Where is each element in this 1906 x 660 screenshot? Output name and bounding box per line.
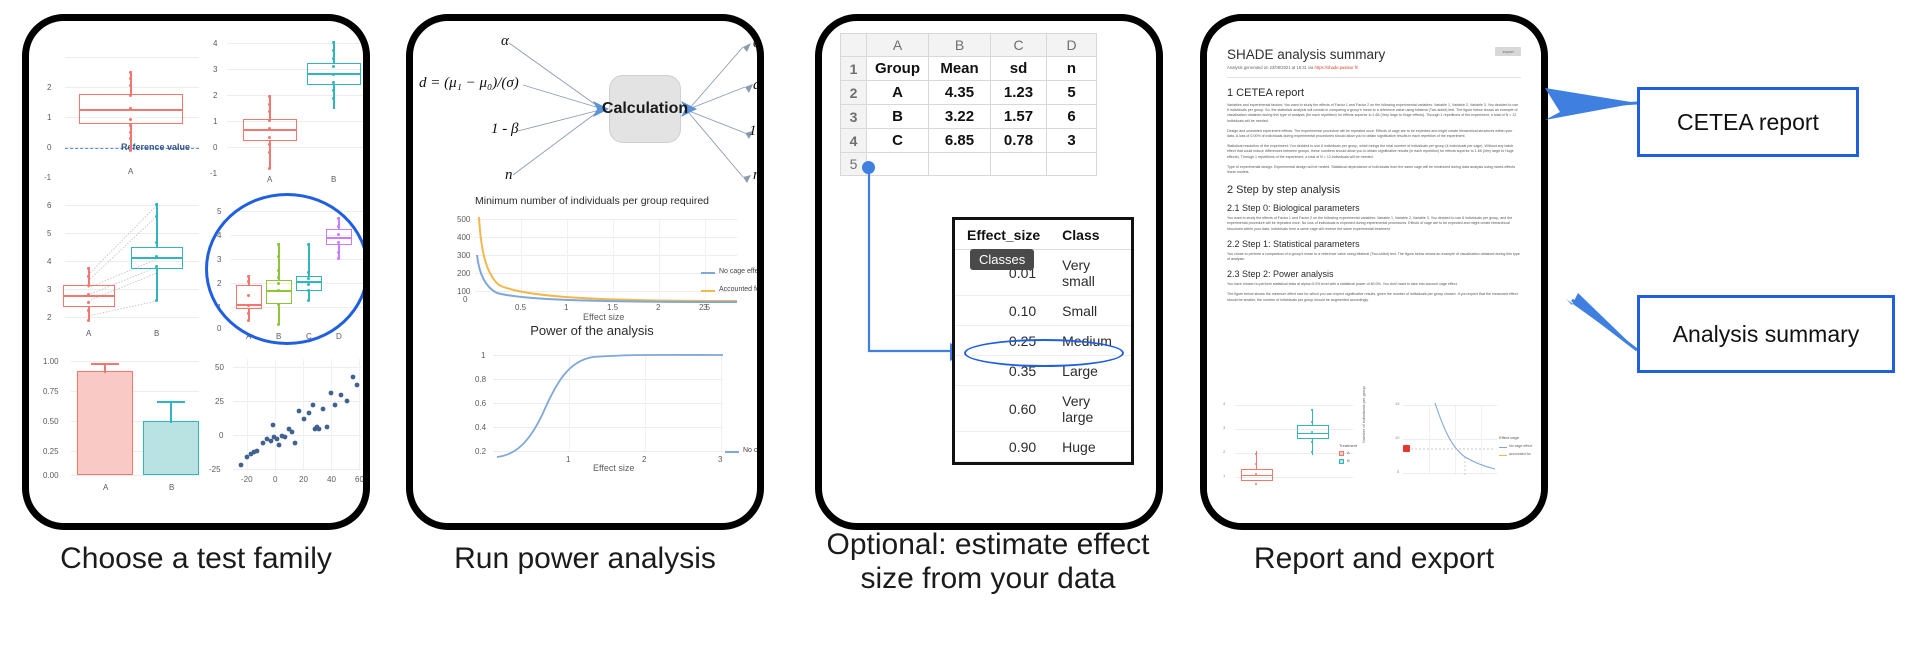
legend-no-cage-effect: No cage effect: [743, 447, 764, 454]
classes-tooltip: Classes: [970, 249, 1034, 270]
boxplot-whisker: [130, 71, 132, 94]
classes-header-effect-size: Effect_size: [955, 220, 1050, 250]
class-value: 0.90: [955, 432, 1050, 462]
scatter-points: [203, 349, 365, 497]
highlight-ellipse-large-row: [964, 339, 1124, 367]
report-figure-boxplot: 4 3 2 1: [1221, 395, 1371, 505]
paragraph: Statistical resolution of the experiment…: [1227, 144, 1521, 160]
paragraph: Type of experimental design: Experimenta…: [1227, 165, 1521, 175]
report-document[interactable]: export SHADE analysis summary Analysis g…: [1207, 21, 1541, 523]
ytick: 0: [47, 143, 51, 152]
class-name: Very small: [1050, 250, 1131, 296]
input-power: 1 - β: [491, 121, 518, 138]
table-row[interactable]: 0.90 Huge: [955, 432, 1131, 462]
output-effect-size: d: [753, 77, 761, 94]
ytick: 4: [213, 39, 217, 48]
xtick: B: [169, 483, 174, 492]
class-name: Very large: [1050, 386, 1131, 432]
legend-item: accounted for: [1509, 452, 1531, 456]
legend-no-cage-effect: No cage effect: [719, 268, 764, 275]
ytick: 0.25: [43, 447, 59, 456]
table-row[interactable]: 0.10 Small: [955, 296, 1131, 326]
xtick: A: [103, 483, 108, 492]
paragraph: Variables and experimental factors: You …: [1227, 103, 1521, 124]
panel-estimate-effect-size[interactable]: A B C D 1 Group Mean sd n 2 A 4.35 1.23: [815, 14, 1163, 530]
ytick: 0: [217, 324, 221, 333]
xaxis-label: Effect size: [593, 463, 634, 473]
screenshot-root: 2 1 0 -1 Reference value: [0, 0, 1906, 660]
input-effect-size-formula: d = (μ₁ − μ₀)/(σ): [419, 75, 519, 92]
paragraph: You want to study the effects of Factor …: [1227, 216, 1521, 232]
divider: [1227, 77, 1521, 78]
xtick: 0.5: [515, 303, 526, 312]
chart-title-power: Power of the analysis: [425, 323, 759, 338]
report-generated-prefix: Analysis generated on 23/08/2021 at 16:3…: [1227, 65, 1315, 70]
xtick: 2: [642, 455, 646, 464]
analysis-summary-callout: Analysis summary: [1637, 295, 1895, 373]
paragraph: The figure below shows the minimum effec…: [1227, 292, 1521, 302]
legend-item: A: [1347, 450, 1350, 455]
legend-title-effect-cage: Effect cage: [1499, 435, 1519, 440]
report-link[interactable]: https://shade.pasteur.fr/: [1315, 65, 1359, 70]
chart-one-sample-boxplot: 2 1 0 -1 Reference value: [35, 39, 201, 181]
report-generated-line: Analysis generated on 23/08/2021 at 16:3…: [1227, 65, 1521, 70]
legend-title-treatment: Treatment: [1339, 443, 1357, 448]
chart-minimum-n: 500 400 300 200 100 0 0.5 1 1.5 2 2.5 3 …: [453, 213, 763, 323]
ytick: 1: [47, 113, 51, 122]
class-value: 0.60: [955, 386, 1050, 432]
ytick: 3: [213, 65, 217, 74]
report-power-curve: [1377, 395, 1523, 505]
class-name: Huge: [1050, 432, 1131, 462]
legend-item: No cage effect: [1509, 444, 1532, 448]
xtick: A: [128, 167, 133, 176]
xtick: 3: [703, 303, 707, 312]
xtick: A: [86, 329, 91, 338]
xtick: 1: [566, 455, 570, 464]
classes-header-class: Class: [1050, 220, 1131, 250]
panel-caption-report-and-export: Report and export: [1200, 542, 1548, 576]
panel-caption-estimate-effect-size: Optional: estimate effect size from your…: [812, 528, 1164, 595]
power-curve: [453, 347, 763, 475]
xtick: A: [267, 175, 272, 184]
chart-title-min-n: Minimum number of individuals per group …: [425, 195, 759, 207]
xtick: 2: [656, 303, 660, 312]
ytick: 2: [213, 91, 217, 100]
paragraph: You have chosen to perform statistical t…: [1227, 282, 1521, 287]
ytick: 0: [213, 143, 217, 152]
ytick: 5: [217, 207, 221, 216]
output-sample-size: n: [753, 167, 761, 184]
report-title: SHADE analysis summary: [1227, 47, 1521, 62]
chart-correlation-scatter: 50 25 0 -25 -20 0 20 40 60: [203, 349, 365, 497]
section-heading-step-by-step: 2 Step by step analysis: [1227, 184, 1521, 196]
subsection-heading-step1: 2.2 Step 1: Statistical parameters: [1227, 239, 1521, 249]
paragraph: You chose to perform a comparison of a g…: [1227, 252, 1521, 262]
chart-proportion-barplot: 1.00 0.75 0.50 0.25 0.00 A B: [35, 349, 201, 497]
ytick: -1: [44, 173, 51, 182]
paragraph: Design and unwanted experiment effects: …: [1227, 129, 1521, 139]
ytick: 0.75: [43, 387, 59, 396]
ytick: 1: [213, 117, 217, 126]
subsection-heading-step2: 2.3 Step 2: Power analysis: [1227, 269, 1521, 279]
ytick: -1: [210, 169, 217, 178]
legend-accounted-for: Accounted for: [719, 286, 762, 293]
cetea-report-callout: CETEA report: [1637, 87, 1859, 157]
ytick: 1.00: [43, 357, 59, 366]
class-value: 0.10: [955, 296, 1050, 326]
ytick: 0.00: [43, 471, 59, 480]
chart-two-group-boxplot: 4 3 2 1 0 -1 A: [201, 31, 365, 181]
calculation-box[interactable]: Calculation: [609, 75, 681, 143]
xtick: B: [331, 175, 336, 184]
xtick: B: [154, 329, 159, 338]
table-row[interactable]: 0.60 Very large: [955, 386, 1131, 432]
yaxis-label-power: Number of individuals per group: [1361, 386, 1366, 443]
legend-item: B: [1347, 458, 1350, 463]
panel-run-power-analysis[interactable]: α d = (μ₁ − μ₀)/(σ) 1 - β n Calculation …: [406, 14, 764, 530]
highlight-circle: [205, 193, 369, 345]
panel-choose-test-family[interactable]: 2 1 0 -1 Reference value: [22, 14, 370, 530]
chart-paired-boxplot: 6 5 4 3 2: [35, 189, 201, 341]
xtick: 1.5: [607, 303, 618, 312]
subsection-heading-step0: 2.1 Step 0: Biological parameters: [1227, 203, 1521, 213]
report-figure-power: 15 10 5 Number of individuals per group …: [1377, 395, 1523, 505]
input-sample-size: n: [505, 167, 513, 184]
xaxis-label: Effect size: [583, 312, 624, 322]
chart-power: 1 0.8 0.6 0.4 0.2 1 2 3 Effect size No c…: [453, 347, 763, 475]
ytick: 0.50: [43, 417, 59, 426]
panel-caption-run-power-analysis: Run power analysis: [406, 542, 764, 576]
export-badge[interactable]: export: [1495, 47, 1521, 56]
xtick: 1: [564, 303, 568, 312]
section-heading-cetea: 1 CETEA report: [1227, 87, 1521, 99]
output-alpha: α: [753, 35, 761, 52]
panel-caption-choose-test-family: Choose a test family: [22, 542, 370, 576]
xtick: D: [336, 332, 342, 341]
class-name: Small: [1050, 296, 1131, 326]
xtick: 3: [718, 455, 722, 464]
output-power: 1 - β: [749, 123, 764, 140]
input-alpha: α: [501, 33, 509, 50]
ytick: 2: [47, 83, 51, 92]
panel-report-and-export[interactable]: export SHADE analysis summary Analysis g…: [1200, 14, 1548, 530]
bar-a: [77, 371, 133, 475]
bar-b: [143, 421, 199, 475]
